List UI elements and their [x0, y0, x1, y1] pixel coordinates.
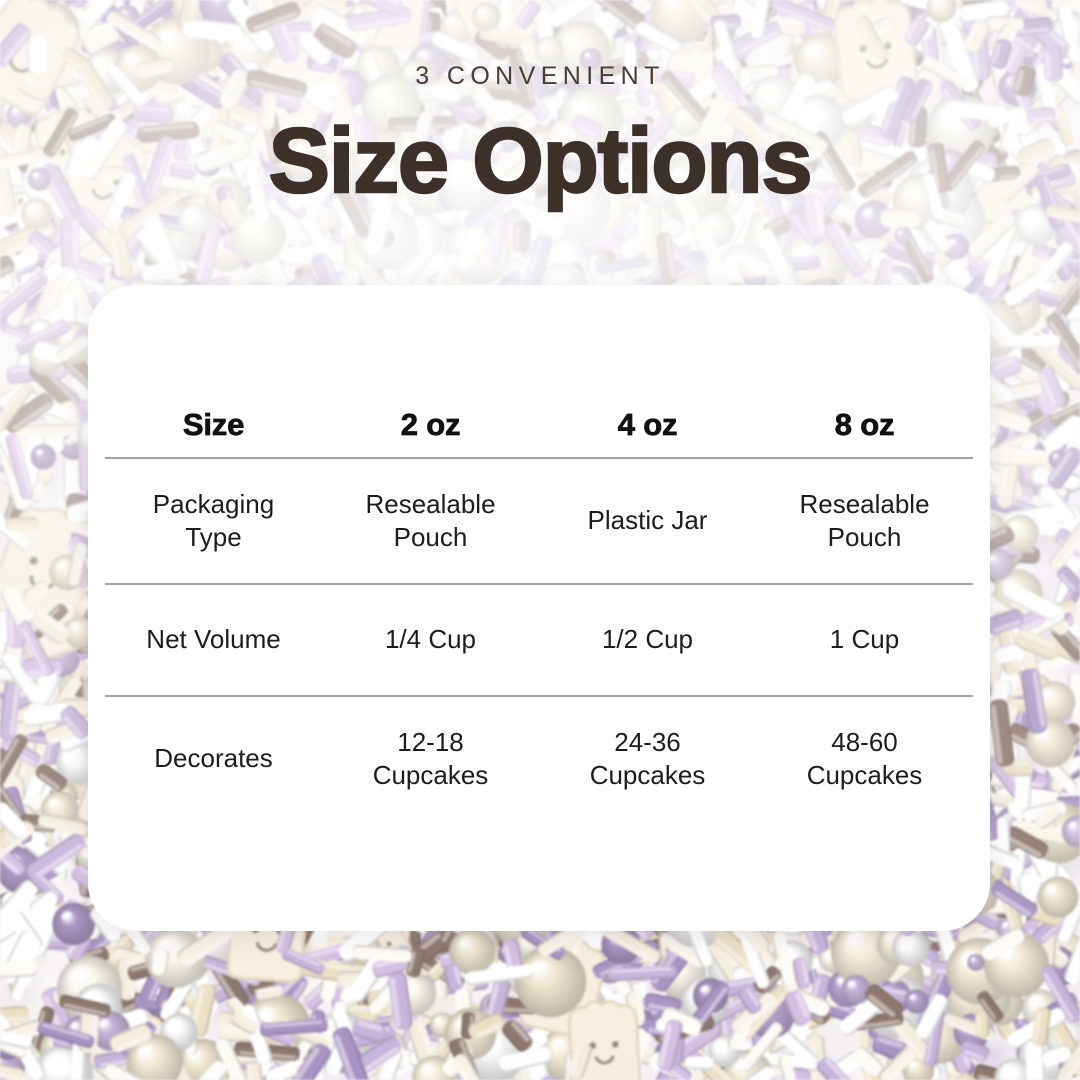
- row-label-packaging-type: PackagingType: [105, 488, 322, 555]
- column-header-8oz: 8 oz: [756, 407, 973, 443]
- table-row: Decorates 12-18Cupcakes 24-36Cupcakes 48…: [105, 697, 973, 821]
- page-title: Size Options: [0, 115, 1080, 207]
- cell-volume-2oz: 1/4 Cup: [322, 623, 539, 656]
- column-header-4oz: 4 oz: [539, 407, 756, 443]
- table-divider: [105, 695, 973, 697]
- table-divider: [105, 457, 973, 459]
- row-label-net-volume: Net Volume: [105, 623, 322, 656]
- size-options-table: Size 2 oz 4 oz 8 oz PackagingType Reseal…: [105, 393, 973, 821]
- table-divider: [105, 583, 973, 585]
- cell-decorates-2oz: 12-18Cupcakes: [322, 726, 539, 793]
- cell-volume-8oz: 1 Cup: [756, 623, 973, 656]
- column-header-2oz: 2 oz: [322, 407, 539, 443]
- cell-volume-4oz: 1/2 Cup: [539, 623, 756, 656]
- cell-packaging-4oz: Plastic Jar: [539, 504, 756, 537]
- column-header-size: Size: [105, 407, 322, 443]
- row-label-decorates: Decorates: [105, 742, 322, 775]
- cell-packaging-2oz: ResealablePouch: [322, 488, 539, 555]
- table-header-row: Size 2 oz 4 oz 8 oz: [105, 393, 973, 457]
- cell-decorates-8oz: 48-60Cupcakes: [756, 726, 973, 793]
- eyebrow-text: 3 CONVENIENT: [0, 64, 1080, 89]
- cell-packaging-8oz: ResealablePouch: [756, 488, 973, 555]
- table-row: Net Volume 1/4 Cup 1/2 Cup 1 Cup: [105, 585, 973, 695]
- table-row: PackagingType ResealablePouch Plastic Ja…: [105, 459, 973, 583]
- cell-decorates-4oz: 24-36Cupcakes: [539, 726, 756, 793]
- poster-stage: 3 CONVENIENT Size Options Size 2 oz 4 oz…: [0, 0, 1080, 1080]
- header: 3 CONVENIENT Size Options: [0, 0, 1080, 207]
- size-options-card: Size 2 oz 4 oz 8 oz PackagingType Reseal…: [88, 285, 990, 931]
